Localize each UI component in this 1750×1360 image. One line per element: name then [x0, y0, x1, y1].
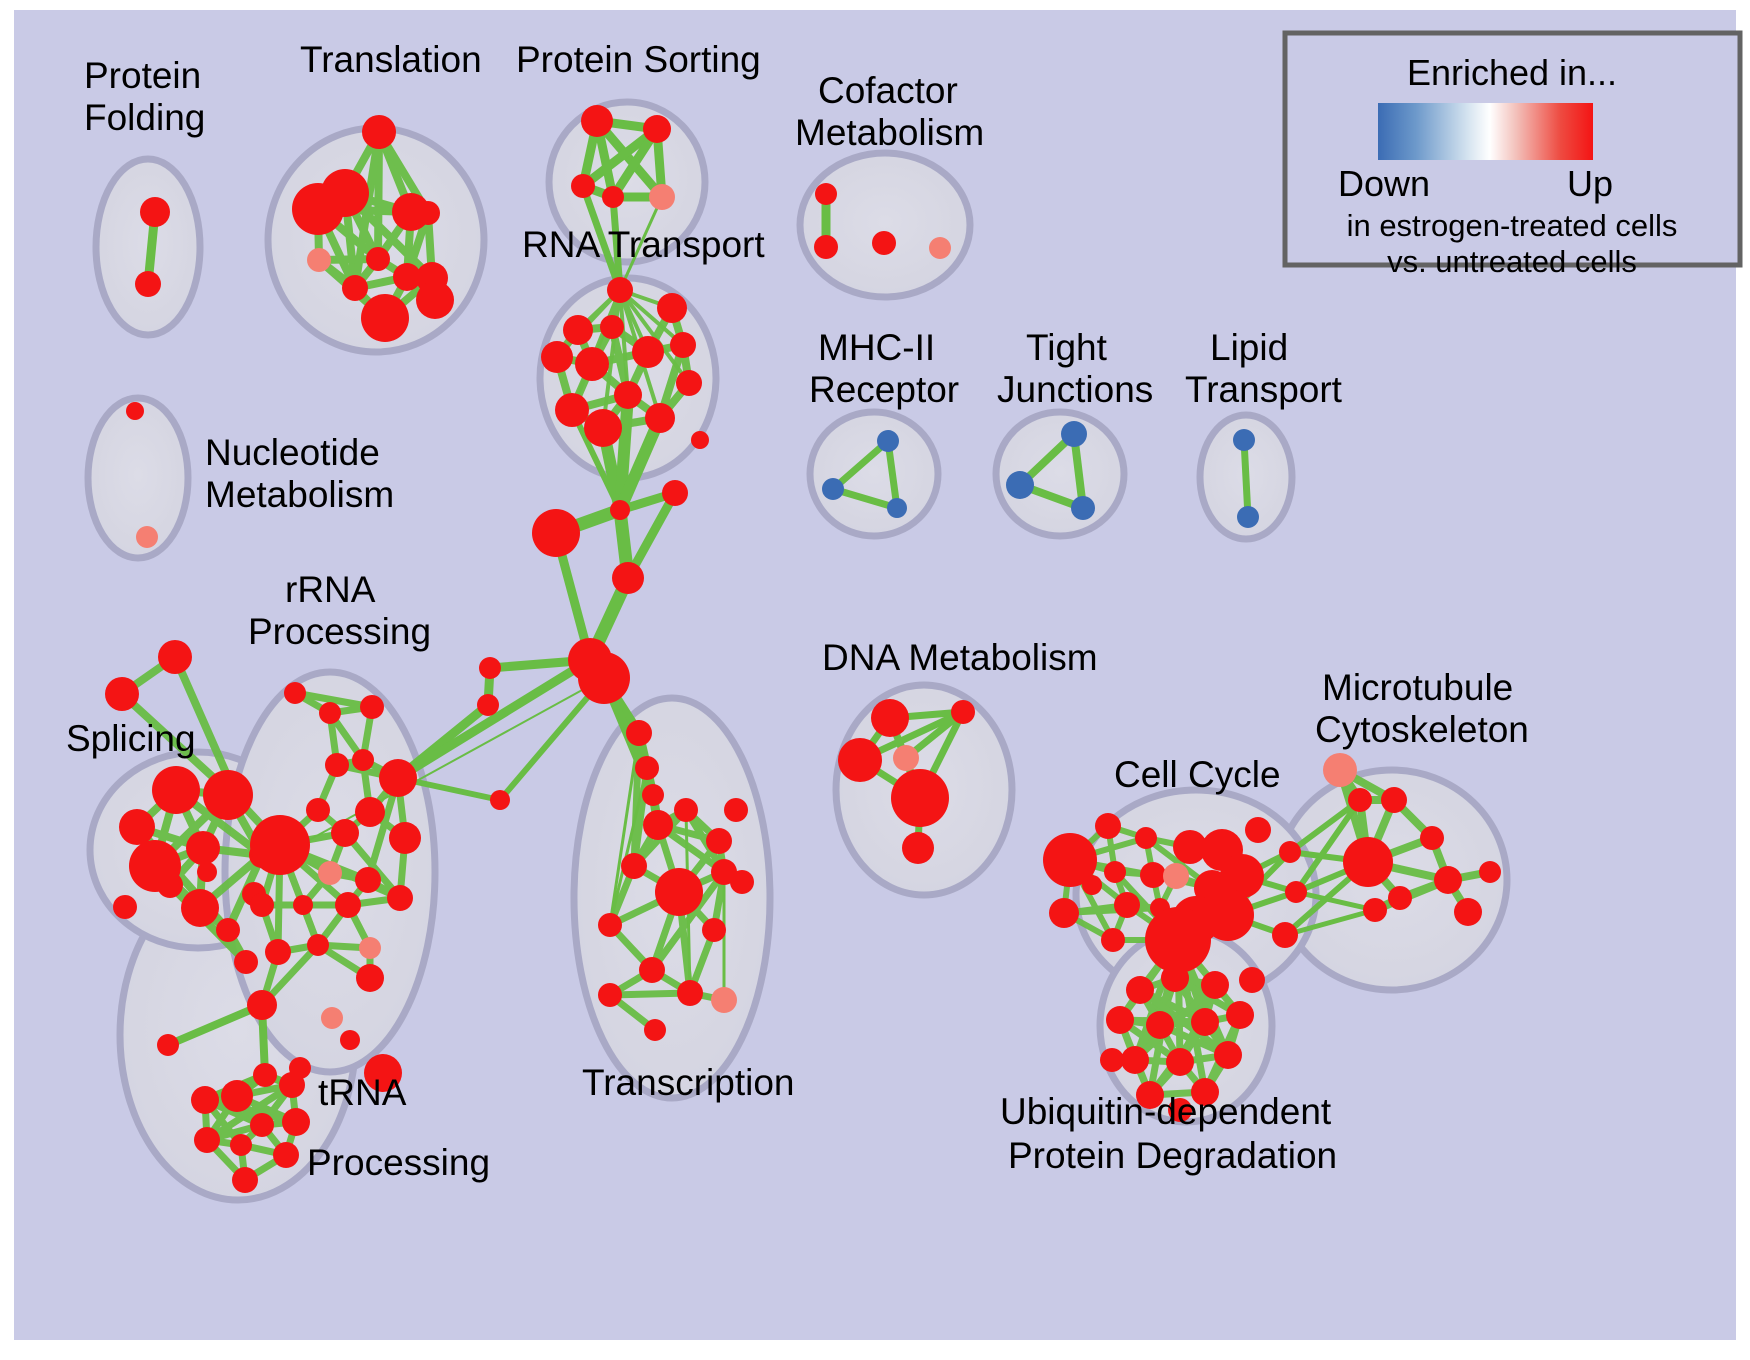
legend-caption-line1: in estrogen-treated cells: [1347, 208, 1678, 243]
label-lipid-transport-line2: Transport: [1185, 369, 1343, 410]
label-ubiquitin-degradation-line2: Protein Degradation: [1008, 1135, 1337, 1176]
label-mhc-ii-receptor-line2: Receptor: [809, 369, 959, 410]
label-cofactor-metabolism-line2: Metabolism: [795, 112, 984, 153]
label-protein-sorting: Protein Sorting: [516, 39, 761, 80]
label-microtubule-cytoskeleton-line2: Cytoskeleton: [1315, 709, 1529, 750]
label-rrna-processing-line2: Processing: [248, 611, 431, 652]
label-protein-folding-line2: Folding: [84, 97, 205, 138]
hull-mhc-ii-receptor: [810, 412, 938, 536]
legend-gradient-bar: [1378, 103, 1593, 160]
label-dna-metabolism: DNA Metabolism: [822, 637, 1098, 678]
legend-caption-line2: vs. untreated cells: [1387, 244, 1637, 279]
label-lipid-transport-line1: Lipid: [1210, 327, 1288, 368]
label-tight-junctions-line1: Tight: [1026, 327, 1108, 368]
network-figure: Protein Folding Translation Protein Sort…: [0, 0, 1750, 1360]
legend: Enriched in... Down Up in estrogen-treat…: [1285, 33, 1740, 279]
label-mhc-ii-receptor-line1: MHC-II: [818, 327, 935, 368]
legend-title: Enriched in...: [1407, 52, 1617, 93]
label-trna-processing-line2: Processing: [307, 1142, 490, 1183]
enrichment-network-canvas: Protein Folding Translation Protein Sort…: [0, 0, 1750, 1360]
label-nucleotide-metabolism-line1: Nucleotide: [205, 432, 380, 473]
label-protein-folding-line1: Protein: [84, 55, 201, 96]
label-splicing: Splicing: [66, 718, 196, 759]
legend-low-label: Down: [1338, 163, 1430, 204]
label-rrna-processing-line1: rRNA: [285, 569, 376, 610]
legend-high-label: Up: [1567, 163, 1613, 204]
label-microtubule-cytoskeleton-line1: Microtubule: [1322, 667, 1513, 708]
label-trna-processing-line1: tRNA: [318, 1072, 407, 1113]
label-cofactor-metabolism-line1: Cofactor: [818, 70, 958, 111]
label-tight-junctions-line2: Junctions: [997, 369, 1153, 410]
label-translation: Translation: [300, 39, 482, 80]
label-cell-cycle: Cell Cycle: [1114, 754, 1281, 795]
label-ubiquitin-degradation-line1: Ubiquitin-dependent: [1000, 1091, 1332, 1132]
label-nucleotide-metabolism-line2: Metabolism: [205, 474, 394, 515]
label-transcription: Transcription: [582, 1062, 794, 1103]
label-rna-transport: RNA Transport: [522, 224, 765, 265]
